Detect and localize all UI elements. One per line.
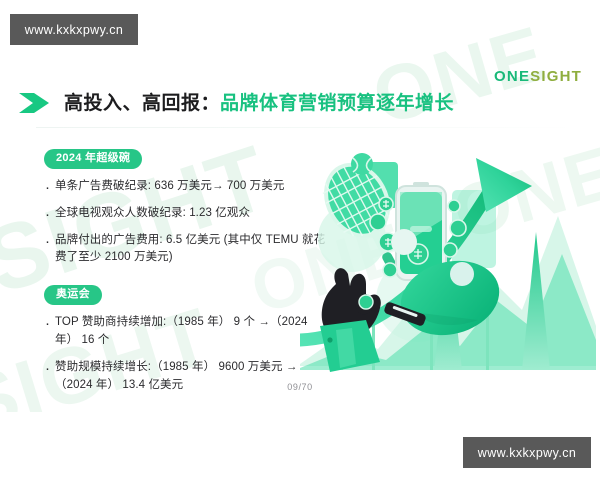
page-title: 高投入、高回报：品牌体育营销预算逐年增长 (64, 94, 454, 113)
page-title-dark: 高投入、高回报： (64, 93, 220, 114)
list-item: 品牌付出的广告费用: 6.5 亿美元 (其中仅 TEMU 就花费了至少 2100… (44, 232, 334, 268)
page-title-green: 品牌体育营销预算逐年增长 (220, 93, 454, 114)
list-item: TOP 赞助商持续增加:（1985 年） 9 个 →（2024 年） 16 个 (44, 314, 334, 350)
slide-canvas: SIGHT ONE ONE ONE SIGHT ONESIGHT 高投入、高回报… (0, 0, 600, 412)
section-badge-olympics: 奥运会 (44, 285, 102, 305)
page-number: 09/70 (0, 382, 600, 392)
ok-hand-icon (320, 268, 381, 372)
bullet-list-superbowl: 单条广告费破纪录: 636 万美元→ 700 万美元 全球电视观众人数破纪录: … (44, 178, 334, 267)
title-divider (36, 127, 576, 128)
brand-logo: ONESIGHT (494, 68, 582, 85)
coin-highlight-decor (391, 229, 417, 255)
logo-text-sight: SIGHT (530, 68, 582, 85)
watermark-bottom: www.kxkxpwy.cn (463, 437, 591, 468)
list-item: 全球电视观众人数破纪录: 1.23 亿观众 (44, 205, 334, 223)
sports-marketing-growth-illustration (300, 150, 596, 385)
section-badge-superbowl: 2024 年超级碗 (44, 149, 142, 169)
section-superbowl: 2024 年超级碗 单条广告费破纪录: 636 万美元→ 700 万美元 全球电… (44, 148, 334, 267)
section-olympics: 奥运会 TOP 赞助商持续增加:（1985 年） 9 个 →（2024 年） 1… (44, 284, 334, 394)
tennis-ball-icon (351, 153, 373, 175)
list-item: 单条广告费破纪录: 636 万美元→ 700 万美元 (44, 178, 334, 196)
page-title-row: 高投入、高回报：品牌体育营销预算逐年增长 (18, 92, 454, 114)
watermark-top: www.kxkxpwy.cn (10, 14, 138, 45)
green-chevron-icon (18, 92, 52, 114)
logo-text-one: ONE (494, 68, 530, 85)
content-column: 2024 年超级碗 单条广告费破纪录: 636 万美元→ 700 万美元 全球电… (44, 148, 334, 404)
